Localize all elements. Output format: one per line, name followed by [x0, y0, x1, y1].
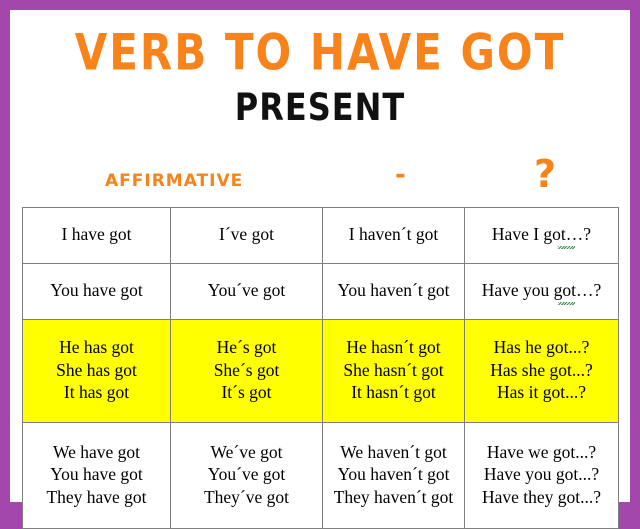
table-cell: You´ve got — [171, 264, 323, 320]
table-cell: Has he got...?Has she got...?Has it got.… — [465, 320, 619, 423]
cell-line: He´s got — [173, 336, 320, 358]
cell-line: You haven´t got — [325, 463, 462, 485]
table-cell: You have got — [23, 264, 171, 320]
cell-line: She hasn´t got — [325, 359, 462, 381]
cell-line: You have got — [25, 279, 168, 301]
cell-line: You have got — [25, 463, 168, 485]
cell-line: I have got — [25, 223, 168, 245]
table-row: He has gotShe has gotIt has gotHe´s gotS… — [23, 320, 619, 423]
cell-line: You´ve got — [173, 279, 320, 301]
cell-line: We´ve got — [173, 441, 320, 463]
poster-sheet: VERB TO HAVE GOT PRESENT AFFIRMATIVE - ?… — [10, 10, 630, 502]
table-row: We have gotYou have gotThey have gotWe´v… — [23, 423, 619, 529]
cell-line: She´s got — [173, 359, 320, 381]
cell-line: It hasn´t got — [325, 381, 462, 403]
page-title: VERB TO HAVE GOT — [10, 28, 630, 78]
cell-line: Has he got...? — [467, 336, 616, 358]
column-label-interrogative: ? — [534, 155, 556, 193]
cell-line: I haven´t got — [325, 223, 462, 245]
cell-line: Have I got…? — [467, 223, 616, 245]
table-cell: We haven´t gotYou haven´t gotThey haven´… — [323, 423, 465, 529]
table-row: I have gotI´ve gotI haven´t gotHave I go… — [23, 208, 619, 264]
cell-line: You´ve got — [173, 463, 320, 485]
cell-line: They have got — [25, 486, 168, 508]
cell-line: Have they got...? — [467, 486, 616, 508]
cell-line: We have got — [25, 441, 168, 463]
cell-line: It´s got — [173, 381, 320, 403]
table-cell: He has gotShe has gotIt has got — [23, 320, 171, 423]
conjugation-table-body: I have gotI´ve gotI haven´t gotHave I go… — [23, 208, 619, 529]
cell-line: They haven´t got — [325, 486, 462, 508]
table-cell: He hasn´t gotShe hasn´t gotIt hasn´t got — [323, 320, 465, 423]
cell-line: Have we got...? — [467, 441, 616, 463]
cell-line: I´ve got — [173, 223, 320, 245]
page-subtitle: PRESENT — [10, 88, 630, 126]
cell-line: Has she got...? — [467, 359, 616, 381]
conjugation-table: I have gotI´ve gotI haven´t gotHave I go… — [22, 207, 619, 529]
cell-line: Have you got...? — [467, 463, 616, 485]
cell-line: He hasn´t got — [325, 336, 462, 358]
table-cell: He´s gotShe´s gotIt´s got — [171, 320, 323, 423]
table-cell: I´ve got — [171, 208, 323, 264]
table-cell: Have we got...?Have you got...?Have they… — [465, 423, 619, 529]
poster-frame: VERB TO HAVE GOT PRESENT AFFIRMATIVE - ?… — [0, 0, 640, 512]
table-cell: We have gotYou have gotThey have got — [23, 423, 171, 529]
cell-line: They´ve got — [173, 486, 320, 508]
column-label-affirmative: AFFIRMATIVE — [105, 173, 243, 190]
table-cell: Have I got…? — [465, 208, 619, 264]
table-row: You have gotYou´ve gotYou haven´t gotHav… — [23, 264, 619, 320]
table-cell: I have got — [23, 208, 171, 264]
cell-line: Have you got…? — [467, 279, 616, 301]
column-label-negative: - — [395, 162, 406, 188]
table-cell: I haven´t got — [323, 208, 465, 264]
cell-line: We haven´t got — [325, 441, 462, 463]
table-cell: We´ve gotYou´ve gotThey´ve got — [171, 423, 323, 529]
table-cell: Have you got…? — [465, 264, 619, 320]
table-cell: You haven´t got — [323, 264, 465, 320]
cell-line: It has got — [25, 381, 168, 403]
cell-line: You haven´t got — [325, 279, 462, 301]
cell-line: Has it got...? — [467, 381, 616, 403]
cell-line: He has got — [25, 336, 168, 358]
cell-line: She has got — [25, 359, 168, 381]
